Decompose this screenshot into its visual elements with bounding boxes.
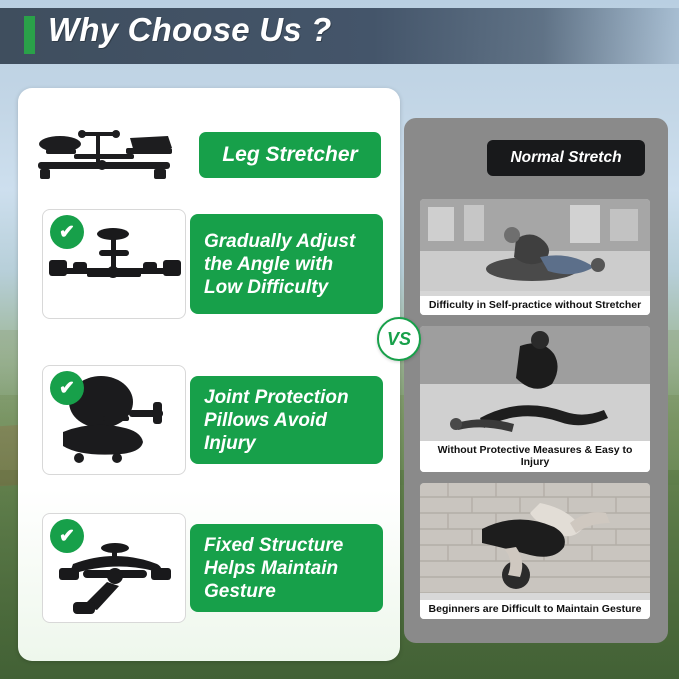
feature-check-icon-1: ✔ [50, 215, 84, 249]
feature-text-1: Gradually Adjust the Angle with Low Diff… [190, 214, 383, 314]
feature-check-icon-2: ✔ [50, 371, 84, 405]
right-item-3: Beginners are Difficult to Maintain Gest… [420, 483, 650, 619]
vs-badge: VS [377, 317, 421, 361]
right-item-1: Difficulty in Self-practice without Stre… [420, 199, 650, 315]
feature-text-3: Fixed Structure Helps Maintain Gesture [190, 524, 383, 612]
right-item-caption-3: Beginners are Difficult to Maintain Gest… [420, 600, 650, 619]
right-item-2: Without Protective Measures & Easy to In… [420, 326, 650, 472]
leg-stretcher-full-machine-icon [30, 118, 190, 190]
photo-person-stretching-brick-wall [420, 483, 650, 619]
left-column-title: Leg Stretcher [199, 132, 381, 178]
page-title: Why Choose Us ? [48, 11, 332, 49]
feature-check-icon-3: ✔ [50, 519, 84, 553]
right-column-title: Normal Stretch [487, 140, 645, 176]
right-item-caption-1: Difficulty in Self-practice without Stre… [420, 296, 650, 315]
promo-infographic: Why Choose Us ? Leg Stretcher [0, 0, 679, 679]
feature-text-2: Joint Protection Pillows Avoid Injury [190, 376, 383, 464]
header-accent-bar [24, 16, 35, 54]
right-item-caption-2: Without Protective Measures & Easy to In… [420, 441, 650, 472]
